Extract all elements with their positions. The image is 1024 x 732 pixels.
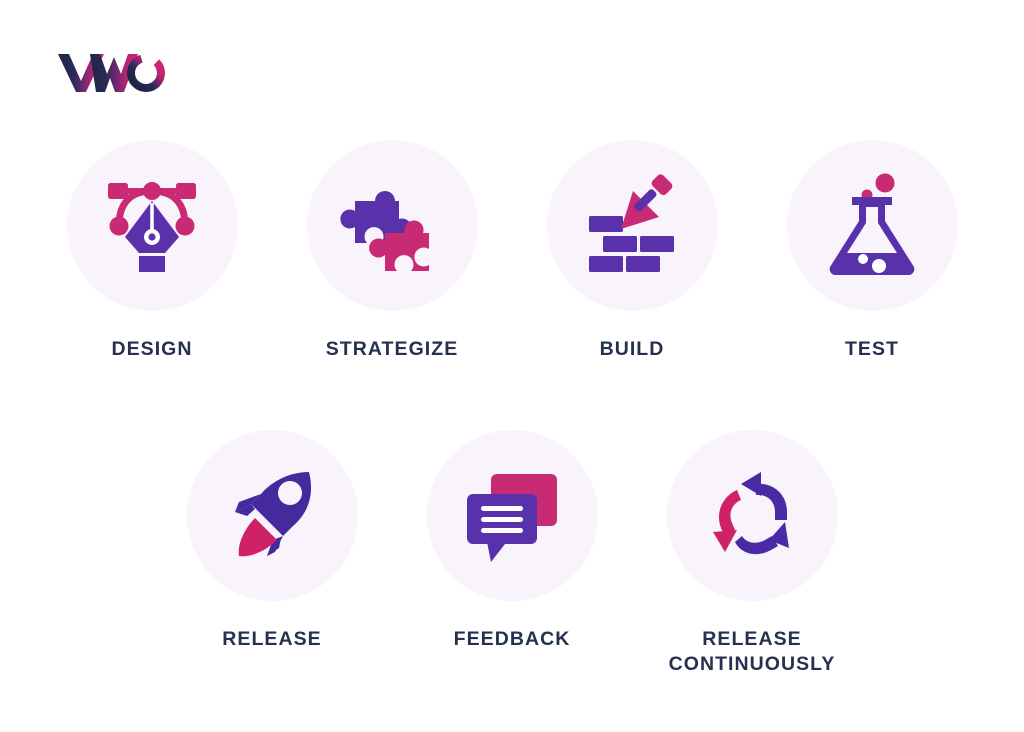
step-feedback[interactable]: FEEDBACK [392, 430, 632, 652]
flask-icon [817, 171, 927, 281]
puzzle-pieces-icon [337, 171, 447, 281]
step-release-circle [187, 430, 358, 601]
step-release-continuously-circle [667, 430, 838, 601]
steps-row-1: DESIGN STRATEGIZE [0, 140, 1024, 362]
step-test-circle [787, 140, 958, 311]
step-design[interactable]: DESIGN [32, 140, 272, 362]
step-strategize-label: STRATEGIZE [326, 337, 459, 362]
step-strategize[interactable]: STRATEGIZE [272, 140, 512, 362]
step-feedback-label: FEEDBACK [454, 627, 571, 652]
step-design-circle [67, 140, 238, 311]
rocket-icon [217, 460, 327, 570]
brick-wall-trowel-icon [577, 171, 687, 281]
vwo-logo [56, 48, 166, 94]
step-strategize-circle [307, 140, 478, 311]
step-design-label: DESIGN [111, 337, 192, 362]
step-release[interactable]: RELEASE [152, 430, 392, 652]
process-steps: DESIGN STRATEGIZE [0, 140, 1024, 677]
pen-tool-icon [97, 171, 207, 281]
vwo-logo-mark [56, 48, 166, 94]
step-test-label: TEST [845, 337, 899, 362]
step-build-circle [547, 140, 718, 311]
steps-row-2: RELEASE FEEDBACK [0, 430, 1024, 677]
step-feedback-circle [427, 430, 598, 601]
step-build[interactable]: BUILD [512, 140, 752, 362]
speech-bubbles-icon [457, 460, 567, 570]
step-test[interactable]: TEST [752, 140, 992, 362]
step-release-continuously-label: RELEASE CONTINUOUSLY [669, 627, 836, 677]
step-build-label: BUILD [600, 337, 665, 362]
step-release-label: RELEASE [222, 627, 321, 652]
recycle-arrows-icon [697, 460, 807, 570]
step-release-continuously[interactable]: RELEASE CONTINUOUSLY [632, 430, 872, 677]
